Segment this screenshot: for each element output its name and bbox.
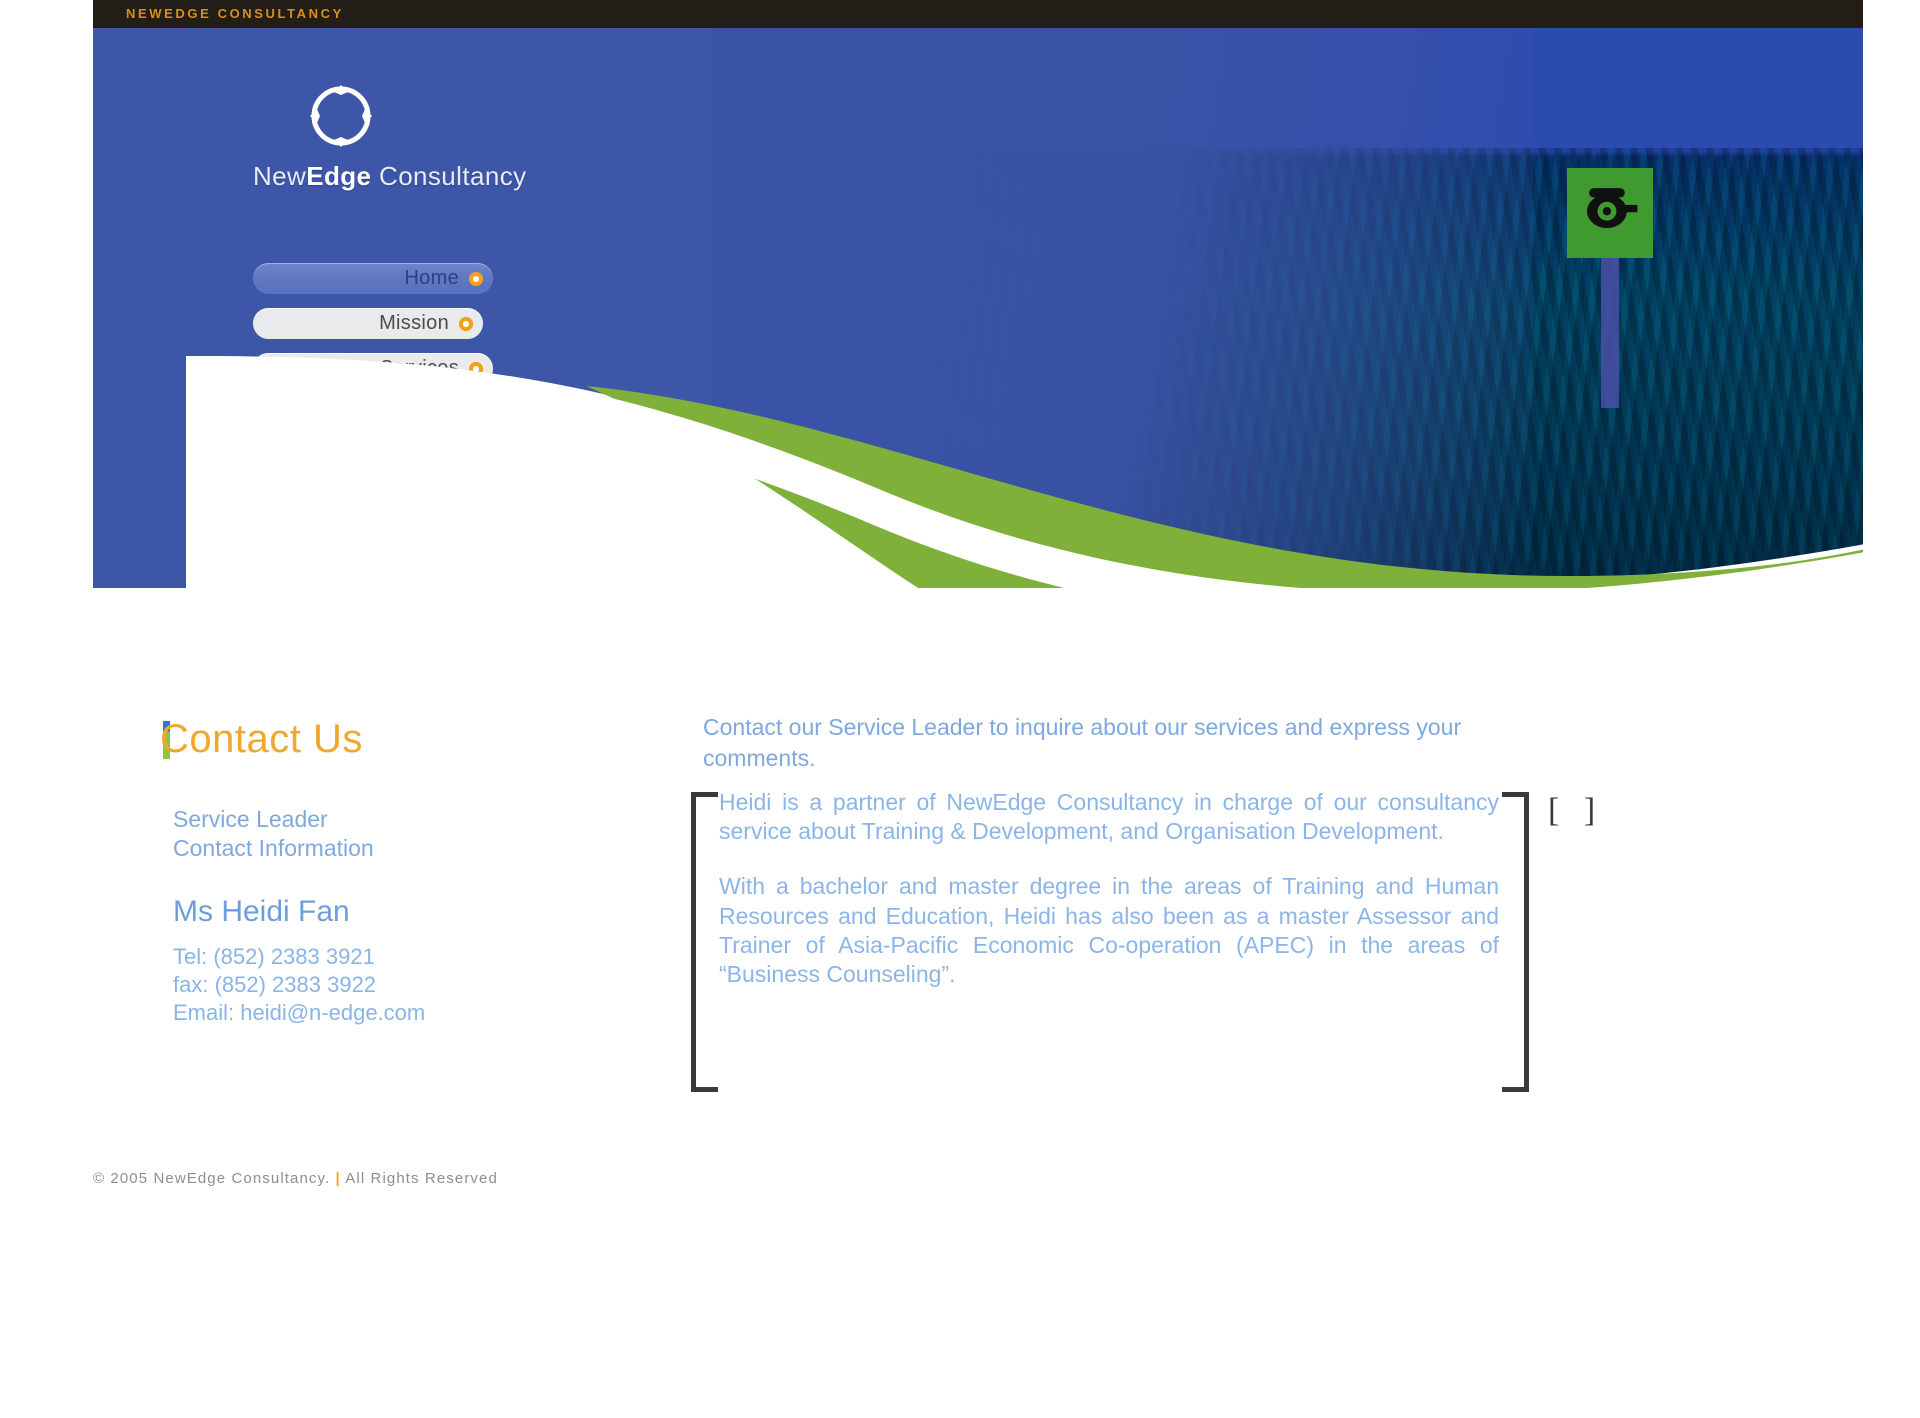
brand-word-edge: Edge [306, 161, 371, 191]
nav-bullet-icon [469, 362, 483, 376]
nav-item-home[interactable]: Home [253, 263, 493, 294]
page-footer: © 2005 NewEdge Consultancy. | All Rights… [93, 1170, 1863, 1210]
nav-item-services[interactable]: Services [253, 353, 493, 384]
nav-label-services: Services [380, 357, 459, 380]
service-leader-role: Service Leader Contact Information [173, 805, 553, 863]
contact-info-column: Service Leader Contact Information Ms He… [173, 805, 553, 1027]
nav-bullet-icon [469, 452, 483, 466]
nav-item-clientele[interactable]: Clientele [253, 443, 493, 474]
page-root: NEWEDGE CONSULTANCY [0, 0, 1920, 1418]
main-navigation: Home Mission Services Consultants Client… [253, 263, 503, 578]
telephone-sign-icon [1553, 168, 1673, 408]
nav-bullet-icon [469, 272, 483, 286]
role-line-2: Contact Information [173, 834, 553, 863]
nav-label-consultants: Consultants [350, 402, 459, 425]
intro-paragraph: Contact our Service Leader to inquire ab… [703, 712, 1543, 773]
footer-separator: | [336, 1170, 341, 1187]
nav-label-commendations: Commendations [309, 492, 459, 515]
bracket-left-icon [691, 792, 718, 1092]
contact-person-name: Ms Heidi Fan [173, 895, 553, 929]
bio-paragraph-1: Heidi is a partner of NewEdge Consultanc… [719, 788, 1499, 846]
nav-item-commendations[interactable]: Commendations [253, 488, 493, 519]
bio-paragraph-2: With a bachelor and master degree in the… [719, 872, 1499, 989]
footer-copyright: © 2005 NewEdge Consultancy. [93, 1170, 330, 1187]
contact-tel: Tel: (852) 2383 3921 [173, 943, 553, 971]
bio-text: Heidi is a partner of NewEdge Consultanc… [719, 788, 1499, 1015]
nav-bullet-icon [459, 317, 473, 331]
page-title: Contact Us [160, 717, 363, 762]
nav-bullet-icon [469, 497, 483, 511]
bio-bracket-block: Heidi is a partner of NewEdge Consultanc… [691, 792, 1529, 1082]
contact-email[interactable]: Email: heidi@n-edge.com [173, 999, 553, 1027]
brand-word-consultancy: Consultancy [371, 161, 526, 191]
hero-banner: NewEdge Consultancy Home Mission Service… [93, 28, 1863, 588]
nav-bullet-icon [469, 542, 483, 556]
contact-details: Tel: (852) 2383 3921 fax: (852) 2383 392… [173, 943, 553, 1027]
nav-item-mission[interactable]: Mission [253, 308, 483, 339]
nav-label-contact-us: Contact Us [357, 537, 459, 560]
nav-item-consultants[interactable]: Consultants [253, 398, 493, 429]
role-line-1: Service Leader [173, 805, 553, 834]
contact-fax: fax: (852) 2383 3922 [173, 971, 553, 999]
footer-text: © 2005 NewEdge Consultancy. | All Rights… [93, 1170, 498, 1187]
brand-wordmark: NewEdge Consultancy [253, 161, 527, 192]
nav-label-clientele: Clientele [378, 447, 459, 470]
brand-word-new: New [253, 161, 306, 191]
right-gutter [1863, 0, 1920, 1418]
main-content: Contact Us Service Leader Contact Inform… [93, 600, 1863, 1160]
bracket-right-icon [1502, 792, 1529, 1092]
left-gutter [0, 0, 93, 1418]
top-bar-title: NEWEDGE CONSULTANCY [126, 6, 344, 21]
nav-item-contact-us[interactable]: Contact Us [253, 533, 493, 564]
bracket-decoration: [ ] [1548, 792, 1603, 830]
nav-label-home: Home [404, 267, 459, 290]
brand-logo-icon [308, 83, 374, 149]
footer-rights: All Rights Reserved [345, 1170, 498, 1187]
nav-label-mission: Mission [379, 312, 449, 335]
nav-bullet-icon [469, 407, 483, 421]
top-bar: NEWEDGE CONSULTANCY [93, 0, 1863, 28]
